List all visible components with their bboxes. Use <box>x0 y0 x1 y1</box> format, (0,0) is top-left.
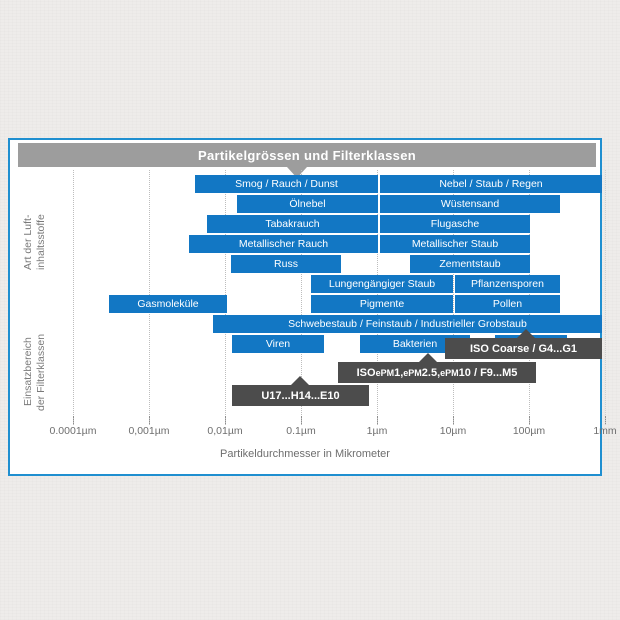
particle-range-bar: Lungengängiger Staub <box>311 275 453 293</box>
particle-range-bar: Ölnebel <box>237 195 378 213</box>
particle-range-bar: Wüstensand <box>380 195 560 213</box>
chart-header-bar: Partikelgrössen und Filterklassen <box>18 143 596 167</box>
callout-label-part: ISO Coarse / G4...G1 <box>470 343 577 355</box>
callout-label-part: U17...H14...E10 <box>261 390 339 402</box>
filter-class-callout: ISO ePM 1, ePM2.5, ePM10 / F9...M5 <box>338 362 536 383</box>
axis-tick <box>301 416 303 424</box>
x-axis: 0.0001µm0,001µm0,01µm0.1µm1µm10µm100µm1m… <box>50 425 596 439</box>
chart-frame: Partikelgrössen und Filterklassen Smog /… <box>8 138 602 476</box>
callout-label-part: ePM <box>403 368 422 378</box>
axis-tick-label: 100µm <box>513 425 545 437</box>
axis-tick <box>605 416 607 424</box>
particle-range-bar: Russ <box>231 255 341 273</box>
axis-tick <box>453 416 455 424</box>
axis-tick <box>529 416 531 424</box>
axis-tick-label: 0,001µm <box>128 425 169 437</box>
x-axis-title: Partikeldurchmesser in Mikrometer <box>10 448 600 460</box>
callout-label-part: ePM <box>376 368 395 378</box>
particle-range-bar: Pollen <box>455 295 560 313</box>
callout-label-part: 2.5, <box>422 367 440 379</box>
filter-class-callout: U17...H14...E10 <box>232 385 369 406</box>
axis-tick-label: 1mm <box>593 425 616 437</box>
particle-range-bar: Smog / Rauch / Dunst <box>195 175 378 193</box>
particle-range-bar: Viren <box>232 335 324 353</box>
particle-range-bar: Nebel / Staub / Regen <box>380 175 602 193</box>
y-axis-label-filter-classes: Einsatzbereich der Filterklassen <box>22 308 48 436</box>
filter-class-callout: ISO Coarse / G4...G1 <box>445 338 602 359</box>
axis-tick-label: 0.1µm <box>286 425 315 437</box>
particle-range-bar: Flugasche <box>380 215 530 233</box>
axis-tick-label: 1µm <box>367 425 388 437</box>
axis-tick <box>225 416 227 424</box>
particle-range-bar: Zementstaub <box>410 255 530 273</box>
axis-tick <box>377 416 379 424</box>
triangle-up-icon <box>517 329 535 338</box>
triangle-up-icon <box>291 376 309 385</box>
gridline <box>73 170 75 425</box>
particle-range-bar: Pflanzensporen <box>455 275 560 293</box>
axis-tick-label: 0.0001µm <box>50 425 97 437</box>
axis-tick-label: 10µm <box>440 425 466 437</box>
callout-label-part: 1, <box>394 367 403 379</box>
axis-tick-label: 0,01µm <box>207 425 242 437</box>
triangle-up-icon <box>419 353 437 362</box>
gridline <box>605 170 607 425</box>
axis-tick <box>73 416 75 424</box>
particle-range-bar: Metallischer Staub <box>380 235 530 253</box>
callout-label-part: 10 / F9...M5 <box>459 367 518 379</box>
page-title: Partikelgrössen und Filterklassen <box>18 143 596 167</box>
plot-area: Smog / Rauch / DunstNebel / Staub / Rege… <box>50 170 596 425</box>
particle-range-bar: Tabakrauch <box>207 215 378 233</box>
y-axis-label-air-contaminants: Art der Luft- inhaltsstoffe <box>22 188 48 296</box>
particle-range-bar: Metallischer Rauch <box>189 235 378 253</box>
particle-range-bar: Gasmoleküle <box>109 295 227 313</box>
callout-label-part: ISO <box>357 367 376 379</box>
callout-label-part: ePM <box>440 368 459 378</box>
particle-range-bar: Pigmente <box>311 295 453 313</box>
particle-range-bar: Schwebestaub / Feinstaub / Industrieller… <box>213 315 602 333</box>
axis-tick <box>149 416 151 424</box>
